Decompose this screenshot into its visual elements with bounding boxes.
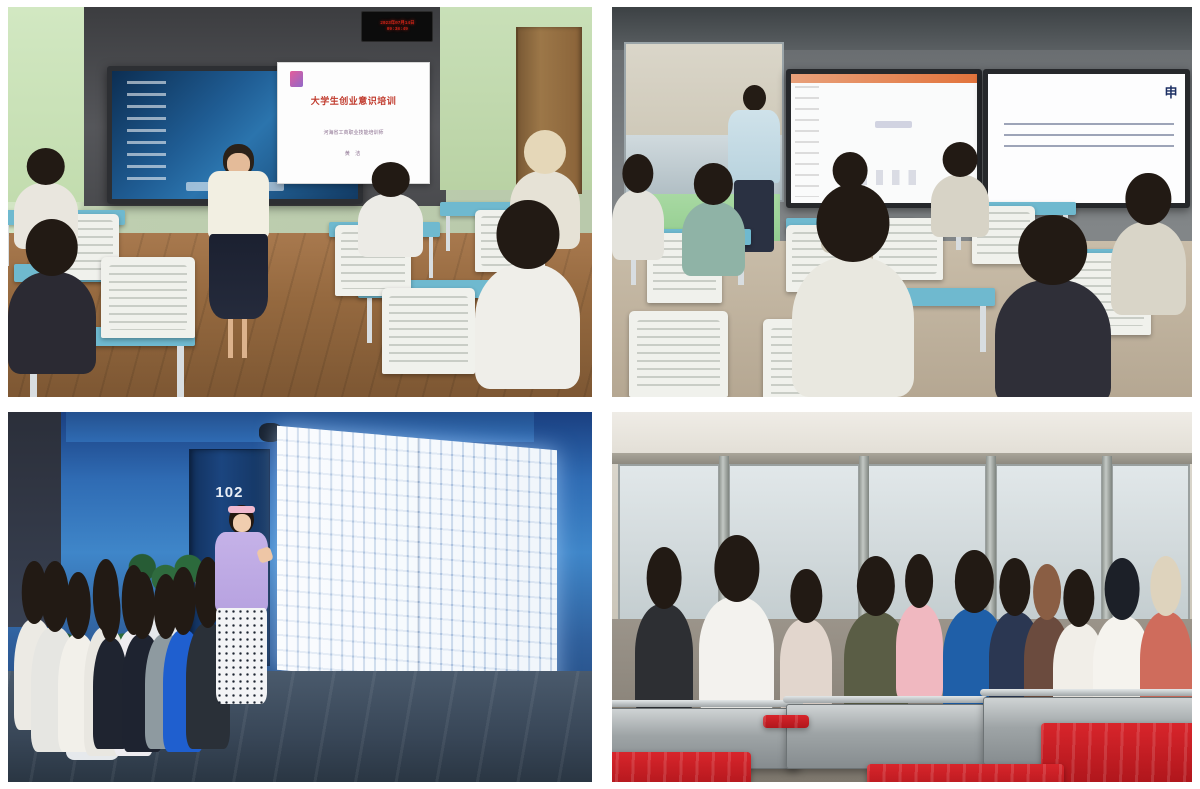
photo-factory-workshop-visit [612,412,1192,782]
visitor-head [1063,569,1094,627]
red-cloth-cover [763,715,809,728]
led-time-text: 09:38:49 [387,27,408,33]
attendee-head [943,142,978,177]
attendee-head [26,219,79,276]
visitor-head [905,554,933,608]
visitor-head [955,550,993,612]
visitor-head [171,567,196,635]
visitor-head [100,580,121,642]
display-panel-divider [417,438,419,682]
visitor-head [791,569,822,623]
visitor-head [130,572,155,638]
visitor-dark-shirt [635,604,693,715]
visitor-head [66,572,91,638]
guide-polka-dot-skirt [216,608,266,704]
visitor-head [647,547,682,609]
visitor-head [41,561,69,631]
app-title-bar [791,74,977,83]
presenter-cardigan [208,171,270,237]
slide-presenter-name: 黄 洁 [278,150,430,157]
presenter-leg-right [242,319,247,358]
classroom-chair [101,257,194,339]
seated-attendee [8,272,96,373]
attendee-head [816,184,889,263]
attendee-head [371,162,410,197]
presenter-skirt [209,234,268,320]
document-body-text [1004,123,1174,151]
tank-rail [612,700,803,707]
guide-headband [228,506,255,513]
visitor-sun-hat [1033,564,1061,620]
visitor-white-shirt-guide [699,597,774,715]
attendee-head [1018,215,1088,285]
visitor-head [1105,558,1140,620]
guide-face [233,514,251,532]
tank-rail [980,689,1192,696]
attendee-head [27,148,66,185]
seated-attendee [475,264,580,389]
red-cloth-cover [612,752,751,782]
slide-title: 大学生创业意识培训 [278,94,430,107]
document-heading: 申 [1164,82,1177,101]
seated-attendee-foreground [792,257,914,397]
classroom-chair [382,288,475,374]
classroom-chair [629,311,728,397]
app-sidebar-tools [795,86,819,197]
desktop-icons [127,81,166,184]
presenter-head [743,85,766,111]
slide-logo-icon [290,71,304,87]
visitor-head [857,556,895,616]
visitor-head [999,558,1030,616]
attendee-head [496,200,559,270]
production-tank [786,704,985,769]
presenter-polo-shirt [728,110,780,184]
led-clock-display: 2023年07月14日 09:38:49 [361,11,433,42]
photo-classroom-lecture-female-speaker: 2023年07月14日 09:38:49 大学生创业意识培训 河海省工商职业技能… [8,7,592,397]
slide-placeholder-text [875,121,912,129]
photo-collage: 2023年07月14日 09:38:49 大学生创业意识培训 河海省工商职业技能… [0,0,1200,789]
projected-slide: 大学生创业意识培训 河海省工商职业技能培训师 黄 洁 [277,62,431,185]
tank-rail [783,696,988,703]
door-number-label: 102 [190,484,269,501]
presenter-leg-left [228,319,233,358]
photo-classroom-lecture-male-speaker: 申 [612,7,1192,397]
seated-attendee-foreground [995,280,1111,397]
seated-attendee [1111,222,1186,316]
seated-attendee [931,175,989,237]
seated-attendee [682,202,746,276]
slide-subtitle: 河海省工商职业技能培训师 [278,129,430,136]
guide-lavender-top [215,532,268,612]
seated-attendee [358,194,422,256]
female-tour-guide [215,505,268,705]
seated-attendee [612,190,664,260]
red-cloth-cover [867,764,1064,783]
product-display-wall [277,426,557,695]
female-presenter [207,144,271,359]
photo-showroom-tour: 102 [8,412,592,782]
support-post [986,456,996,634]
attendee-hat [524,130,566,174]
visitor [896,604,942,700]
